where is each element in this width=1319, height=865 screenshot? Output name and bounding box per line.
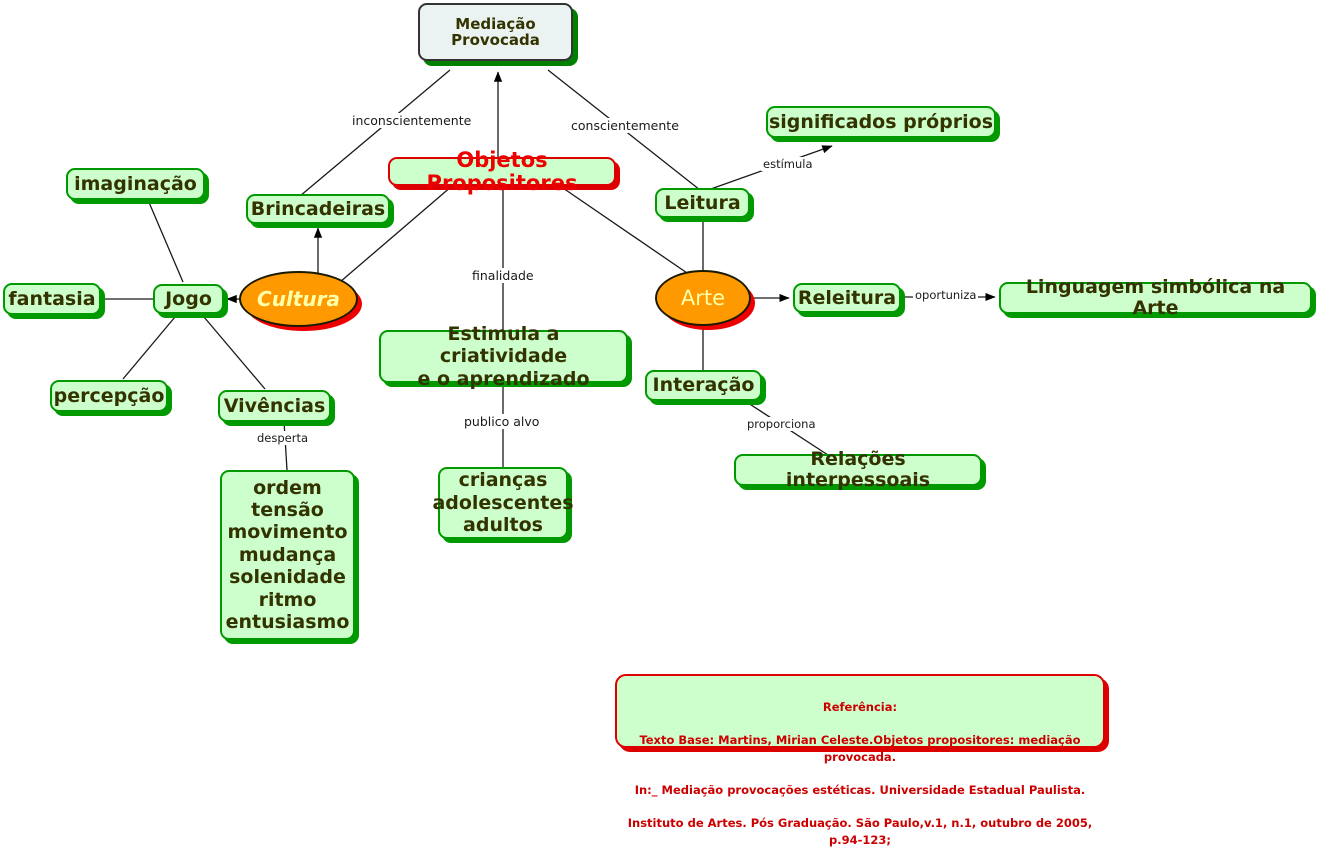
node-label: Estimula a criatividade e o aprendizado <box>381 323 626 390</box>
edge-label-desperta: desperta <box>255 431 310 445</box>
node-qualidades-do-jogo[interactable]: ordem tensão movimento mudança solenidad… <box>220 470 355 640</box>
node-mediacao-provocada[interactable]: Mediação Provocada <box>418 3 573 61</box>
node-fantasia[interactable]: fantasia <box>3 283 101 315</box>
edge-label-proporciona: proporciona <box>745 417 818 431</box>
concept-map-canvas: Mediação Provocada Objetos Propositores … <box>0 0 1319 758</box>
reference-line-2: In:_ Mediação provocações estéticas. Uni… <box>627 782 1093 799</box>
node-label: Mediação Provocada <box>420 16 571 48</box>
node-cultura[interactable]: Cultura <box>239 271 358 327</box>
node-label: Leitura <box>664 193 740 214</box>
node-percepcao[interactable]: percepção <box>50 380 168 412</box>
node-vivencias[interactable]: Vivências <box>218 390 331 422</box>
node-label: Interação <box>653 375 755 396</box>
edge-label-text: estímula <box>763 157 813 171</box>
node-significados-proprios[interactable]: significados próprios <box>766 106 996 138</box>
node-label: Relações interpessoais <box>736 449 980 490</box>
node-label: percepção <box>54 386 165 407</box>
node-arte[interactable]: Arte <box>655 270 751 326</box>
node-label: Brincadeiras <box>251 199 385 220</box>
node-label: Arte <box>681 286 725 310</box>
node-label: Cultura <box>257 287 340 311</box>
node-label: significados próprios <box>769 112 993 133</box>
node-label: Objetos Propositores <box>390 149 614 194</box>
edge-imaginacao-jogo <box>148 200 183 282</box>
edge-label-text: oportuniza <box>915 288 976 302</box>
edge-label-text: proporciona <box>747 417 816 431</box>
reference-line-1: Texto Base: Martins, Mirian Celeste.Obje… <box>627 732 1093 765</box>
node-label: imaginação <box>74 174 197 195</box>
edge-jogo-percepcao <box>123 317 175 379</box>
node-interacao[interactable]: Interação <box>645 370 762 401</box>
node-label: crianças adolescentes adultos <box>432 469 573 536</box>
node-jogo[interactable]: Jogo <box>153 284 224 314</box>
edge-label-inconscientemente: inconscientemente <box>350 113 473 128</box>
edge-vivencias-qualidades <box>284 421 287 470</box>
node-relacoes-interpessoais[interactable]: Relações interpessoais <box>734 454 982 486</box>
node-releitura[interactable]: Releitura <box>793 283 901 313</box>
node-label: fantasia <box>8 289 95 310</box>
node-label: Jogo <box>165 289 212 310</box>
node-label: ordem tensão movimento mudança solenidad… <box>226 477 350 634</box>
node-label: Vivências <box>224 396 326 417</box>
node-brincadeiras[interactable]: Brincadeiras <box>246 194 390 224</box>
node-label: Releitura <box>798 288 896 309</box>
edge-label-finalidade: finalidade <box>470 268 536 283</box>
edge-label-text: finalidade <box>472 268 534 283</box>
edge-label-text: desperta <box>257 431 308 445</box>
node-label: Linguagem simbólica na Arte <box>1001 277 1310 318</box>
edge-label-text: inconscientemente <box>352 113 471 128</box>
edge-label-text: conscientemente <box>571 118 679 133</box>
edge-jogo-vivencias <box>204 317 265 389</box>
node-linguagem-simbolica[interactable]: Linguagem simbólica na Arte <box>999 282 1312 314</box>
edge-label-publico-alvo: publico alvo <box>462 414 541 429</box>
edge-label-text: publico alvo <box>464 414 539 429</box>
reference-heading: Referência: <box>627 699 1093 716</box>
edge-label-conscientemente: conscientemente <box>569 118 681 133</box>
edge-label-oportuniza: oportuniza <box>913 288 978 302</box>
node-objetos-propositores[interactable]: Objetos Propositores <box>388 157 616 186</box>
reference-line-3: Instituto de Artes. Pós Graduação. São P… <box>627 815 1093 848</box>
edge-label-estimula: estímula <box>761 157 815 171</box>
node-leitura[interactable]: Leitura <box>655 188 750 218</box>
node-estimula-criatividade[interactable]: Estimula a criatividade e o aprendizado <box>379 330 628 383</box>
node-publico-alvo[interactable]: crianças adolescentes adultos <box>438 467 568 539</box>
reference-box[interactable]: Referência: Texto Base: Martins, Mirian … <box>615 674 1105 748</box>
node-imaginacao[interactable]: imaginação <box>66 168 205 200</box>
